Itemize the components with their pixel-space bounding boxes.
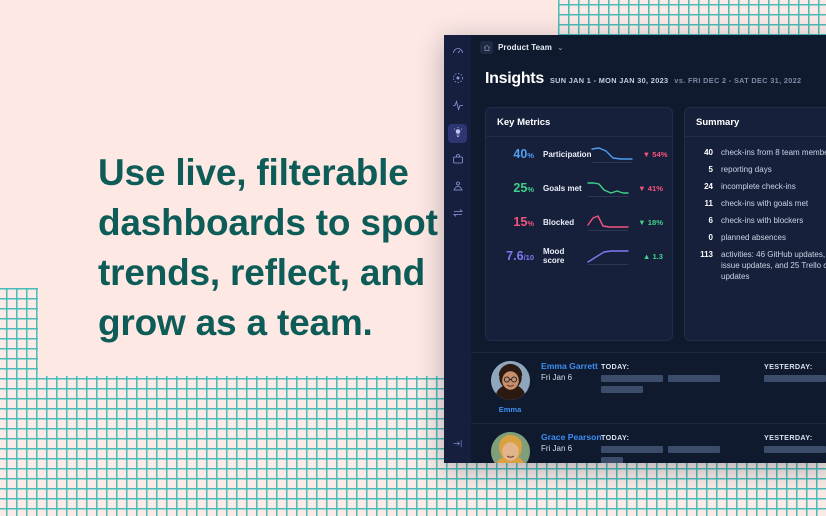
summary-count: 11 — [685, 198, 721, 209]
avatar[interactable] — [491, 432, 530, 463]
gauge-icon — [452, 44, 464, 62]
people-icon — [452, 179, 464, 197]
collapse-panel-icon — [452, 436, 463, 454]
answer-column: YESTERDAY: — [764, 433, 826, 463]
key-metrics-title: Key Metrics — [486, 108, 672, 137]
answer-bar-row — [601, 457, 720, 463]
sidebar-item-integrations[interactable] — [448, 205, 467, 224]
summary-title: Summary — [685, 108, 826, 137]
page-title: Use live, filterable dashboards to spot … — [98, 148, 498, 348]
redacted-answer-bar — [601, 446, 663, 453]
summary-description: check-ins from 8 team members — [721, 147, 826, 158]
summary-count: 6 — [685, 215, 721, 226]
summary-description: activities: 46 GitHub updates, 42 Jira i… — [721, 249, 826, 282]
workspace-name[interactable]: Product Team — [498, 43, 552, 52]
check-in-row[interactable]: GraceGrace PearsonFri Jan 6TODAY:YESTERD… — [471, 423, 826, 463]
redacted-answer-bar — [601, 457, 623, 463]
summary-count: 113 — [685, 249, 721, 260]
summary-row: 113activities: 46 GitHub updates, 42 Jir… — [685, 246, 826, 285]
answer-bar-row — [764, 375, 826, 382]
answers-area: TODAY:YESTERDAY: — [601, 433, 826, 463]
sidebar-item-insights[interactable] — [448, 124, 467, 143]
metric-unit: % — [527, 185, 534, 194]
app-sidebar — [444, 35, 471, 463]
avatar-block: Grace — [485, 432, 535, 463]
metric-delta: ▼ 18% — [629, 218, 663, 227]
avatar[interactable] — [491, 361, 530, 400]
summary-row: 6check-ins with blockers — [685, 212, 826, 229]
home-button[interactable] — [480, 41, 493, 54]
answer-bar-row — [601, 375, 720, 382]
check-in-row[interactable]: EmmaEmma GarrettFri Jan 6TODAY:YESTERDAY… — [471, 353, 826, 414]
summary-row: 11check-ins with goals met — [685, 195, 826, 212]
sparkline-chart — [591, 143, 633, 165]
sparkline-chart — [587, 245, 629, 267]
metric-unit: % — [527, 219, 534, 228]
metric-row[interactable]: 7.6/10Mood score▲ 1.3 — [486, 239, 672, 273]
sidebar-item-goals[interactable] — [448, 70, 467, 89]
redacted-answer-bar — [601, 375, 663, 382]
summary-description: reporting days — [721, 164, 772, 175]
metric-value: 25% — [492, 181, 534, 195]
answer-column: TODAY: — [601, 433, 720, 463]
redacted-answer-bar — [668, 375, 720, 382]
summary-count: 24 — [685, 181, 721, 192]
summary-panel: Summary 40check-ins from 8 team members5… — [684, 107, 826, 341]
redacted-answer-bar — [764, 375, 826, 382]
answer-day-label: TODAY: — [601, 433, 720, 442]
metric-value: 15% — [492, 215, 534, 229]
answer-column: YESTERDAY: — [764, 362, 826, 397]
answer-day-label: TODAY: — [601, 362, 720, 371]
sidebar-item-team[interactable] — [448, 178, 467, 197]
panels-row: Key Metrics 40%Participation▼ 54%25%Goal… — [471, 97, 826, 341]
metric-label: Goals met — [534, 184, 587, 193]
sparkline-chart — [587, 177, 629, 199]
avatar-short-name: Emma — [485, 405, 535, 414]
summary-description: check-ins with blockers — [721, 215, 803, 226]
summary-row: 5reporting days — [685, 161, 826, 178]
dashboard-window: Product Team ⌄ Insights SUN JAN 1 - MON … — [444, 35, 826, 463]
sidebar-item-projects[interactable] — [448, 151, 467, 170]
metric-value: 40% — [492, 147, 534, 161]
key-metrics-list: 40%Participation▼ 54%25%Goals met▼ 41%15… — [486, 137, 672, 273]
sidebar-collapse-button[interactable] — [450, 437, 466, 453]
avatar-block: Emma — [485, 361, 535, 414]
metric-label: Mood score — [534, 247, 587, 265]
compare-range-label[interactable]: vs. FRI DEC 2 - SAT DEC 31, 2022 — [674, 76, 801, 85]
dashboard-main: Product Team ⌄ Insights SUN JAN 1 - MON … — [471, 35, 826, 463]
answer-day-label: YESTERDAY: — [764, 362, 826, 371]
summary-row: 24incomplete check-ins — [685, 178, 826, 195]
metric-row[interactable]: 40%Participation▼ 54% — [486, 137, 672, 171]
metric-label: Blocked — [534, 218, 587, 227]
sparkline-chart — [587, 211, 629, 233]
summary-description: incomplete check-ins — [721, 181, 796, 192]
metric-row[interactable]: 15%Blocked▼ 18% — [486, 205, 672, 239]
answer-day-label: YESTERDAY: — [764, 433, 826, 442]
summary-count: 5 — [685, 164, 721, 175]
metric-delta: ▼ 54% — [633, 150, 667, 159]
activity-pulse-icon — [452, 98, 464, 116]
summary-count: 40 — [685, 147, 721, 158]
lightbulb-icon — [452, 125, 464, 143]
summary-count: 0 — [685, 232, 721, 243]
summary-row: 0planned absences — [685, 229, 826, 246]
metric-value: 7.6/10 — [492, 249, 534, 263]
summary-description: planned absences — [721, 232, 786, 243]
summary-list: 40check-ins from 8 team members5reportin… — [685, 137, 826, 285]
workspace-topbar: Product Team ⌄ — [471, 35, 826, 60]
redacted-answer-bar — [601, 386, 643, 393]
sidebar-item-activity[interactable] — [448, 97, 467, 116]
chevron-down-icon[interactable]: ⌄ — [557, 44, 564, 52]
insights-header: Insights SUN JAN 1 - MON JAN 30, 2023 vs… — [471, 60, 826, 88]
redacted-answer-bar — [764, 446, 826, 453]
check-in-list: EmmaEmma GarrettFri Jan 6TODAY:YESTERDAY… — [471, 352, 826, 463]
promo-screenshot: Use live, filterable dashboards to spot … — [0, 0, 826, 516]
insights-title: Insights — [485, 70, 544, 88]
answer-bar-row — [601, 446, 720, 453]
metric-unit: % — [527, 151, 534, 160]
summary-row: 40check-ins from 8 team members — [685, 144, 826, 161]
target-icon — [452, 71, 464, 89]
briefcase-icon — [452, 152, 464, 170]
answers-area: TODAY:YESTERDAY: — [601, 362, 826, 397]
sidebar-item-dashboard[interactable] — [448, 43, 467, 62]
home-icon — [483, 39, 491, 57]
metric-delta: ▲ 1.3 — [629, 252, 663, 261]
metric-row[interactable]: 25%Goals met▼ 41% — [486, 171, 672, 205]
date-range-label[interactable]: SUN JAN 1 - MON JAN 30, 2023 — [550, 76, 668, 85]
metric-label: Participation — [534, 150, 591, 159]
metric-unit: /10 — [524, 253, 534, 262]
summary-description: check-ins with goals met — [721, 198, 808, 209]
redacted-answer-bar — [668, 446, 720, 453]
answer-bar-row — [764, 446, 826, 453]
answer-bar-row — [601, 386, 720, 393]
key-metrics-panel: Key Metrics 40%Participation▼ 54%25%Goal… — [485, 107, 673, 341]
answer-column: TODAY: — [601, 362, 720, 397]
transfer-arrows-icon — [452, 206, 464, 224]
metric-delta: ▼ 41% — [629, 184, 663, 193]
